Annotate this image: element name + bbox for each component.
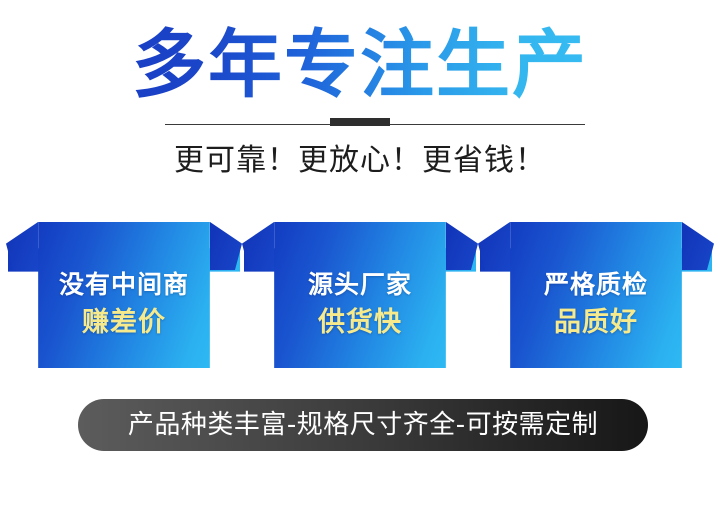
feature-card-source-factory: 源头厂家 供货快	[244, 222, 476, 368]
divider-center-block	[330, 118, 390, 126]
feature-primary-text: 没有中间商	[59, 268, 189, 301]
headline-text: 多年专注生产	[132, 24, 588, 106]
feature-primary-text: 源头厂家	[308, 268, 412, 301]
bottom-tagline-text: 产品种类丰富-规格尺寸齐全-可按需定制	[128, 408, 598, 442]
feature-card-group: 没有中间商 赚差价 源头厂家 供货快 严格质检 品质好	[0, 222, 720, 372]
headline-container: 多年专注生产	[0, 24, 720, 106]
feature-secondary-text: 赚差价	[82, 305, 166, 340]
feature-card-strict-inspection: 严格质检 品质好	[480, 222, 712, 368]
bottom-tagline-pill: 产品种类丰富-规格尺寸齐全-可按需定制	[78, 399, 648, 451]
feature-secondary-text: 品质好	[554, 305, 638, 340]
feature-card-text: 源头厂家 供货快	[244, 222, 476, 368]
feature-card-no-middleman: 没有中间商 赚差价	[8, 222, 240, 368]
feature-card-text: 没有中间商 赚差价	[8, 222, 240, 368]
feature-primary-text: 严格质检	[544, 268, 648, 301]
feature-secondary-text: 供货快	[318, 305, 402, 340]
subtitle-container: 更可靠！更放心！更省钱！	[0, 141, 720, 181]
feature-card-text: 严格质检 品质好	[480, 222, 712, 368]
subtitle-text: 更可靠！更放心！更省钱！	[174, 141, 546, 181]
promo-banner: 多年专注生产 更可靠！更放心！更省钱！ 没有中间商 赚差价 源头厂家 供货快	[0, 0, 720, 516]
